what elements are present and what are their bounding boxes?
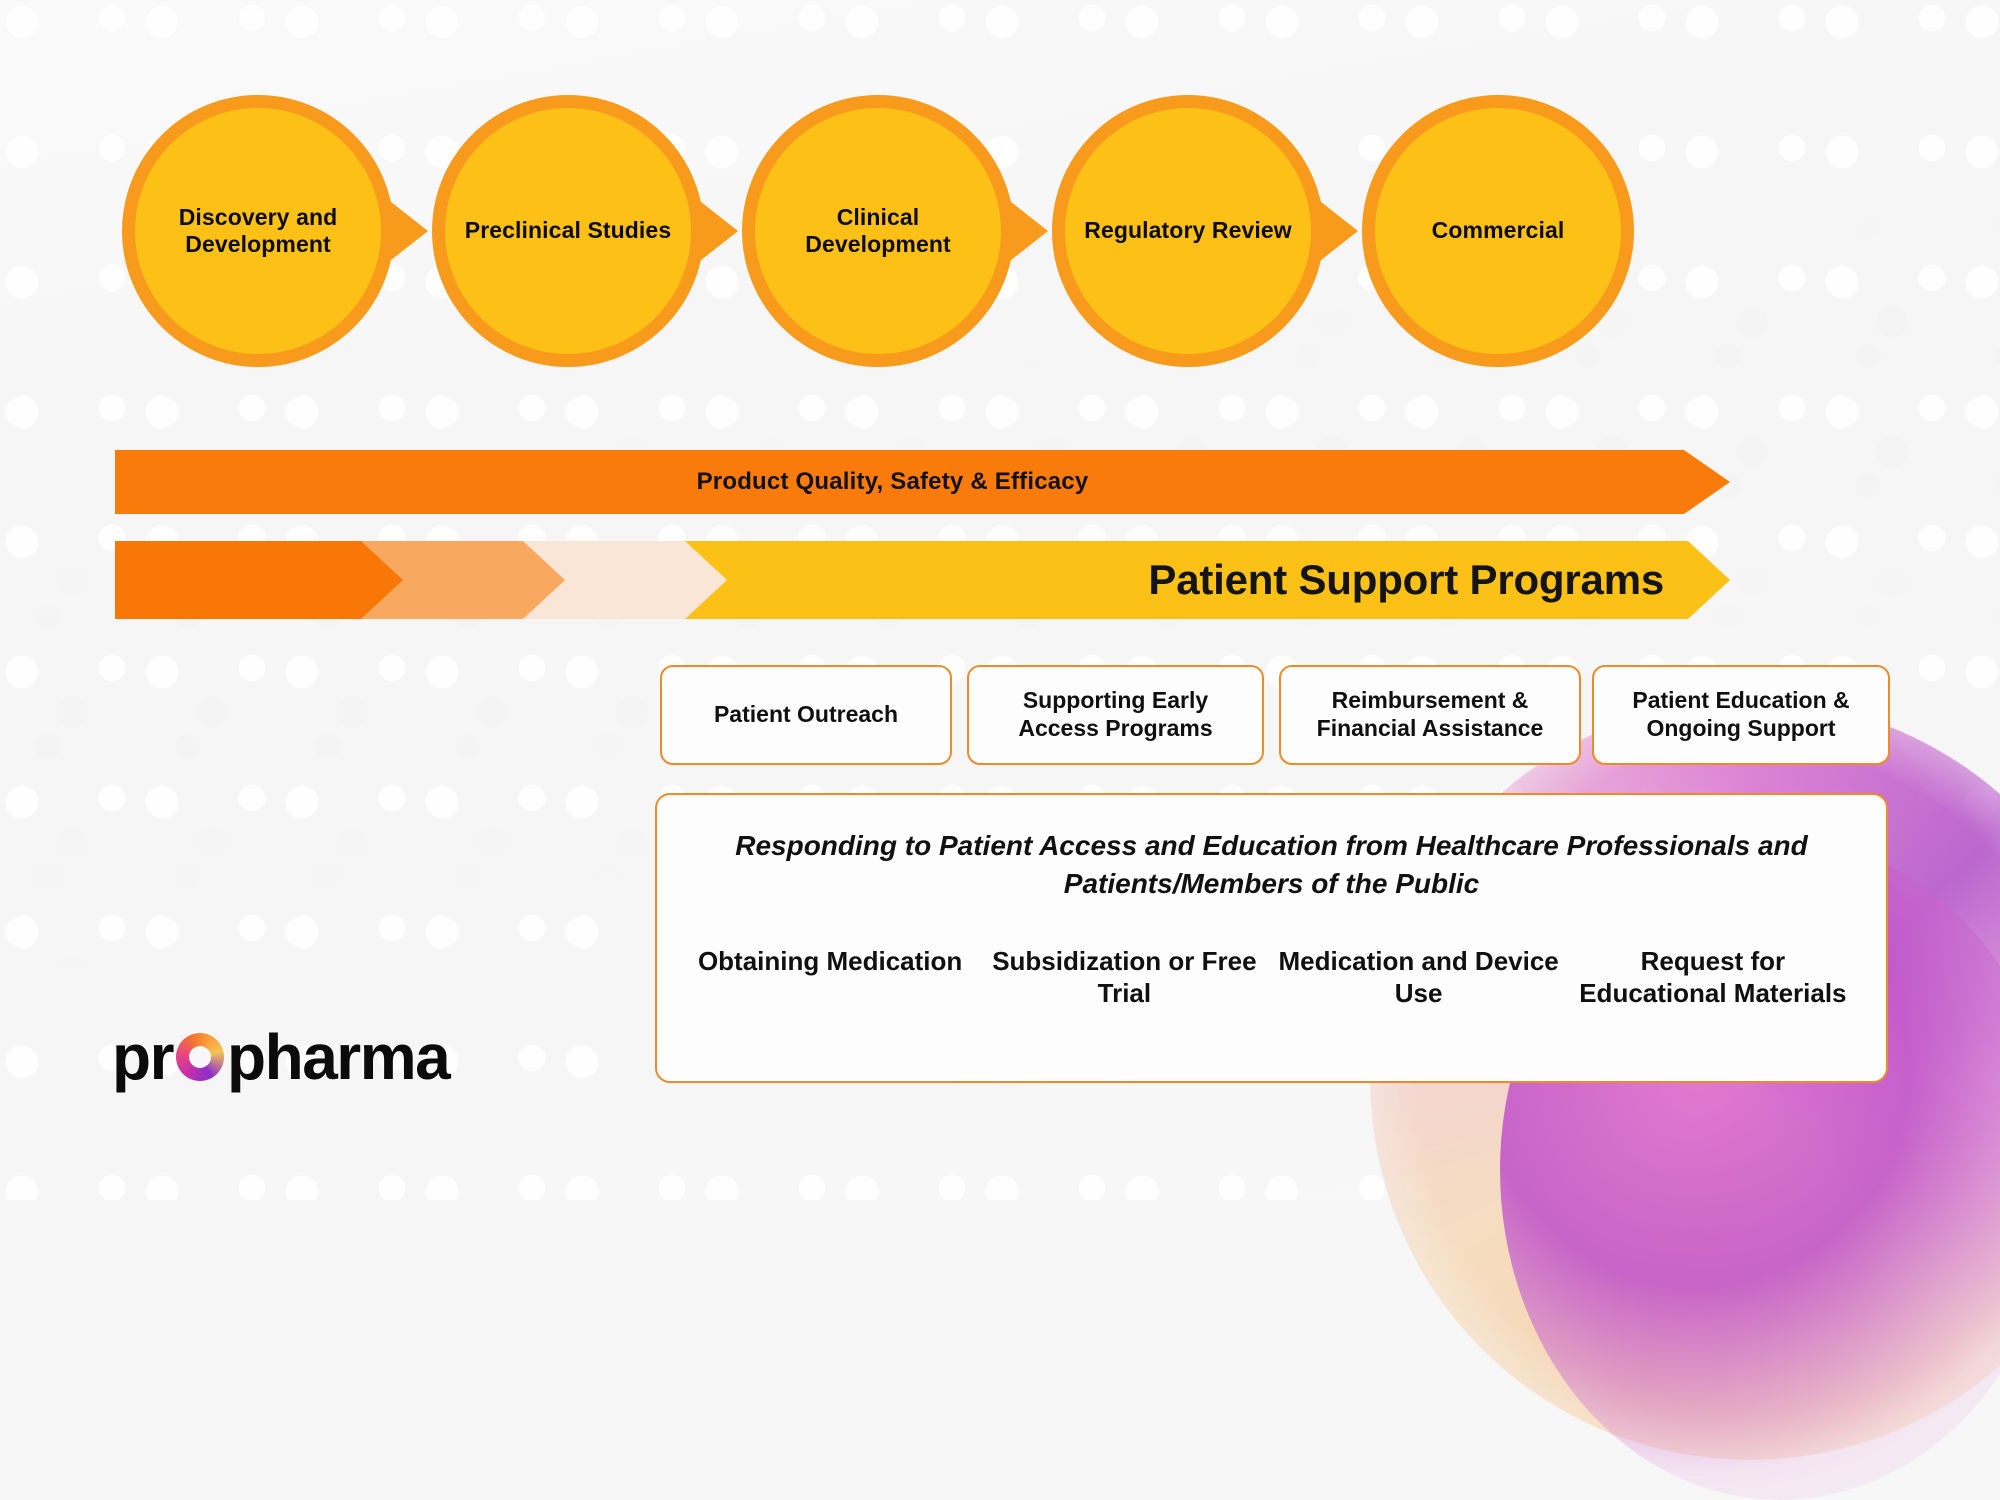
support-bar-segment-deep-orange [115,541,403,619]
support-pill-row: Patient Outreach Supporting Early Access… [660,665,1890,765]
patient-support-programs-label: Patient Support Programs [1148,541,1664,619]
support-pill-label: Patient Education & Ongoing Support [1594,687,1888,742]
support-pill-label: Supporting Early Access Programs [969,687,1262,742]
pipeline-stage-commercial[interactable]: Commercial [1362,95,1634,367]
propharma-logo[interactable]: pr pharma [112,1022,449,1092]
support-pill-supporting-early-access-programs[interactable]: Supporting Early Access Programs [967,665,1264,765]
pipeline-stage-label: Commercial [1418,217,1579,244]
patient-support-programs-bar: Patient Support Programs [115,541,1730,619]
pipeline-stage-label: Discovery and Development [135,204,381,258]
product-quality-arrow-bar: Product Quality, Safety & Efficacy [115,450,1730,514]
pipeline-stage-label: Preclinical Studies [451,217,685,244]
responding-panel-title: Responding to Patient Access and Educati… [699,827,1844,903]
responding-items-row: Obtaining Medication Subsidization or Fr… [683,945,1860,1065]
pipeline-stage-row: Discovery and Development Preclinical St… [0,95,2000,405]
pipeline-stage-label: Regulatory Review [1070,217,1306,244]
swirl-ring-icon [176,1033,224,1081]
support-pill-reimbursement-financial-assistance[interactable]: Reimbursement & Financial Assistance [1279,665,1581,765]
responding-panel: Responding to Patient Access and Educati… [655,793,1888,1083]
responding-item-medication-and-device-use[interactable]: Medication and Device Use [1272,945,1566,1065]
support-pill-label: Patient Outreach [702,701,910,729]
responding-item-subsidization-or-free-trial[interactable]: Subsidization or Free Trial [977,945,1271,1065]
pipeline-stage-discovery-and-development[interactable]: Discovery and Development [122,95,394,367]
support-pill-patient-education-ongoing-support[interactable]: Patient Education & Ongoing Support [1592,665,1890,765]
pipeline-stage-preclinical-studies[interactable]: Preclinical Studies [432,95,704,367]
support-pill-patient-outreach[interactable]: Patient Outreach [660,665,952,765]
pipeline-stage-regulatory-review[interactable]: Regulatory Review [1052,95,1324,367]
logo-text-right: pharma [227,1025,449,1089]
responding-item-obtaining-medication[interactable]: Obtaining Medication [683,945,977,1065]
pipeline-stage-label: Clinical Development [755,204,1001,258]
pipeline-stage-clinical-development[interactable]: Clinical Development [742,95,1014,367]
responding-item-request-for-educational-materials[interactable]: Request for Educational Materials [1566,945,1860,1065]
product-quality-arrow-label: Product Quality, Safety & Efficacy [697,468,1089,496]
support-pill-label: Reimbursement & Financial Assistance [1281,687,1579,742]
logo-text-left: pr [112,1025,173,1089]
